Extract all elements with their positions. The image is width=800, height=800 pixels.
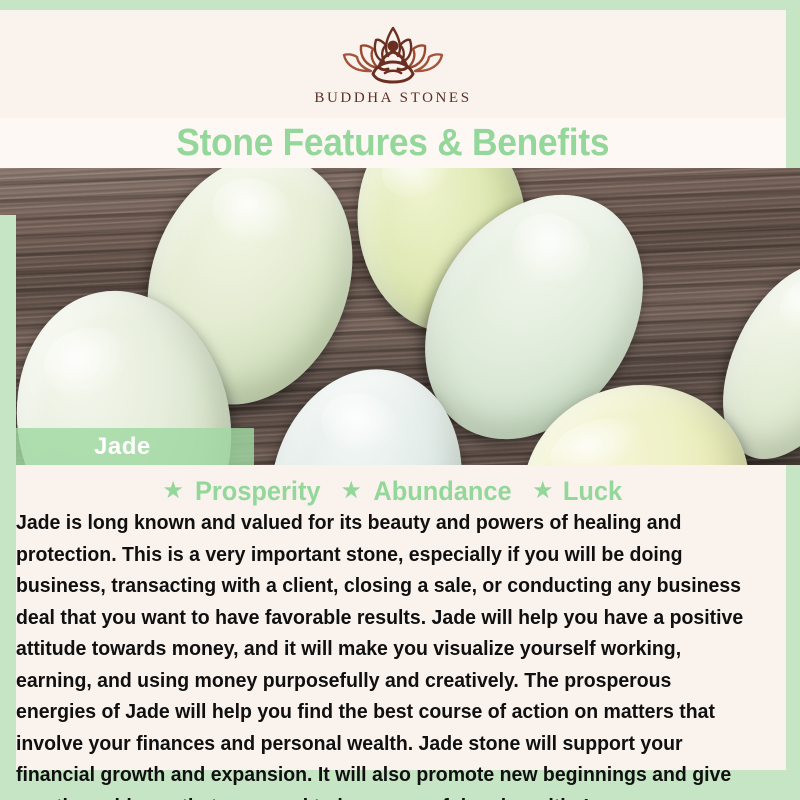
benefit-label: Abundance <box>373 476 511 507</box>
mint-band-left <box>0 215 16 770</box>
star-icon: ★ <box>341 479 363 503</box>
stone-photo <box>0 168 800 465</box>
stone-name-label: Jade <box>94 433 151 461</box>
star-icon: ★ <box>162 479 184 503</box>
brand-header: BUDDHA STONES <box>0 10 786 115</box>
lotus-meditation-icon <box>318 24 468 86</box>
benefit-item-abundance: ★ Abundance <box>341 476 517 507</box>
benefits-row: ★ Prosperity ★ Abundance ★ Luck <box>0 472 786 510</box>
star-icon: ★ <box>532 479 554 503</box>
benefit-item-luck: ★ Luck <box>532 476 624 507</box>
benefit-item-prosperity: ★ Prosperity <box>162 476 324 507</box>
title-bar: Stone Features & Benefits <box>0 118 786 168</box>
stone-name-badge: Jade <box>16 428 254 465</box>
description-text: Jade is long known and valued for its be… <box>16 508 751 800</box>
brand-name: BUDDHA STONES <box>314 90 471 107</box>
benefit-label: Prosperity <box>195 476 321 507</box>
poster-canvas: BUDDHA STONES Stone Features & Benefits … <box>0 0 800 800</box>
benefit-label: Luck <box>562 476 621 507</box>
page-title: Stone Features & Benefits <box>177 122 610 165</box>
